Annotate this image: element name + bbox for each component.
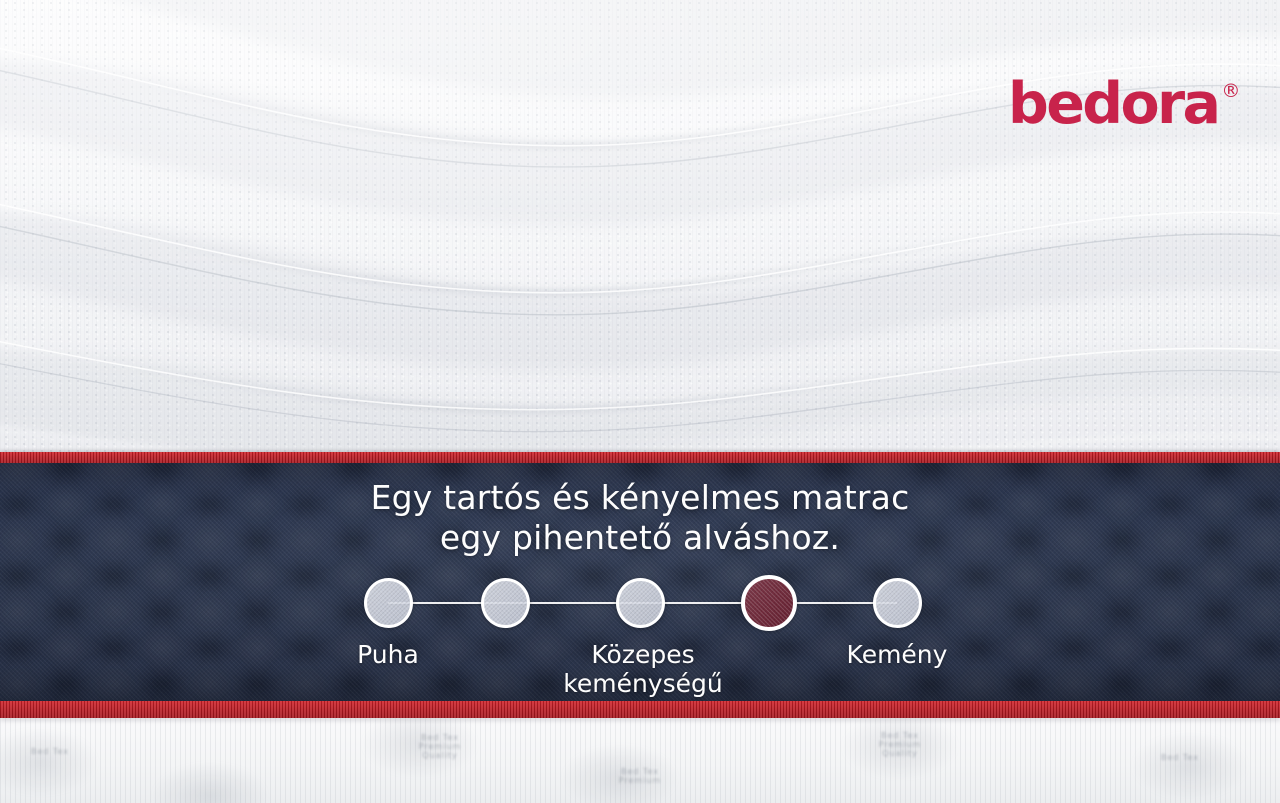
fabric-blotch: [0, 727, 100, 797]
red-piping-bottom: [0, 701, 1280, 718]
fabric-ghost-text: Bed Tex Premium Quality: [860, 731, 940, 758]
dot-texture: [619, 581, 662, 625]
fabric-ghost-text: Bed Tex Premium Quality: [400, 733, 480, 760]
firmness-scale: Puha Közepes keménységű Kemény: [0, 462, 1280, 702]
firmness-step-3[interactable]: [616, 578, 665, 628]
dot-texture: [876, 581, 919, 625]
mattress-bottom-cover: Bed Tex Premium Quality Bed Tex Premium …: [0, 717, 1280, 803]
firmness-step-2[interactable]: [481, 578, 530, 628]
dot-texture: [745, 579, 793, 627]
fabric-blotch: [1130, 731, 1250, 801]
fabric-ghost-text: Bed Tex Premium: [600, 767, 680, 785]
firmness-label-firm: Kemény: [817, 640, 977, 669]
firmness-label-soft: Puha: [308, 640, 468, 669]
dot-texture: [367, 581, 410, 625]
firmness-step-4-selected[interactable]: [741, 575, 797, 631]
product-banner: bedora ® Egy tartós és kényelmes matrac …: [0, 0, 1280, 803]
registered-trademark-icon: ®: [1221, 82, 1240, 101]
surface-lighting: [0, 0, 1280, 455]
bedora-logo: bedora ®: [1008, 76, 1240, 133]
dot-texture: [484, 581, 527, 625]
firmness-label-medium: Közepes keménységű: [543, 640, 743, 698]
fabric-ghost-text: Bed Tex: [1140, 753, 1220, 762]
firmness-step-1[interactable]: [364, 578, 413, 628]
logo-wordmark: bedora: [1008, 76, 1218, 133]
firmness-step-5[interactable]: [873, 578, 922, 628]
fabric-ghost-text: Bed Tex: [10, 747, 90, 756]
mattress-top-cover: [0, 0, 1280, 455]
fabric-blotch: [150, 761, 270, 803]
